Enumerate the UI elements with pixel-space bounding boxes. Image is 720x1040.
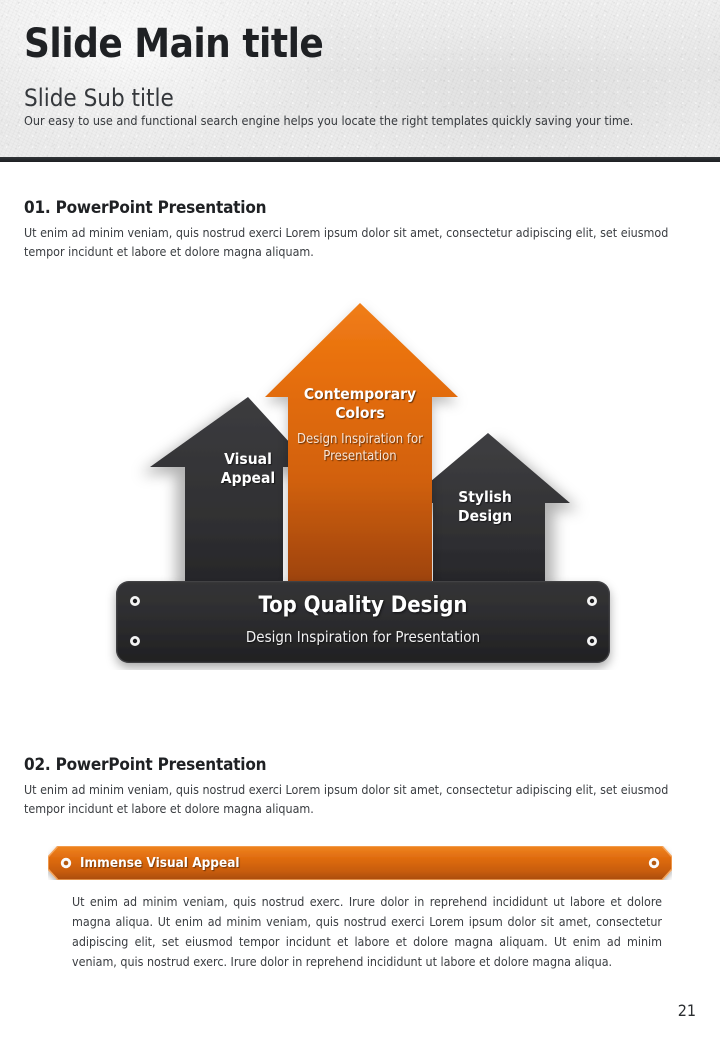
banner-immense-visual-appeal[interactable]: Immense Visual Appeal: [48, 846, 672, 880]
section-01-body: Ut enim ad minim veniam, quis nostrud ex…: [24, 224, 678, 261]
section-02-body: Ut enim ad minim veniam, quis nostrud ex…: [24, 781, 678, 818]
section-01-title: 01. PowerPoint Presentation: [24, 198, 266, 218]
page-number: 21: [678, 1001, 696, 1020]
page-subtitle: Slide Sub title: [24, 86, 174, 110]
header-description: Our easy to use and functional search en…: [24, 112, 664, 130]
slide: Slide Main title Slide Sub title Our eas…: [0, 0, 720, 1040]
section-02-paragraph: Ut enim ad minim veniam, quis nostrud ex…: [72, 892, 662, 972]
arrow-left: [150, 397, 312, 585]
banner-screw-right: [649, 858, 659, 868]
header-divider: [0, 157, 720, 162]
arrow-diagram: Contemporary Colors Design Inspiration f…: [0, 285, 720, 670]
banner-screw-left: [61, 858, 71, 868]
plate-title: Top Quality Design: [120, 593, 606, 618]
plate-subtitle: Design Inspiration for Presentation: [120, 628, 606, 646]
arrow-center: [265, 303, 458, 585]
section-02-title: 02. PowerPoint Presentation: [24, 755, 266, 775]
page-title: Slide Main title: [24, 24, 323, 64]
banner-label: Immense Visual Appeal: [80, 855, 240, 871]
